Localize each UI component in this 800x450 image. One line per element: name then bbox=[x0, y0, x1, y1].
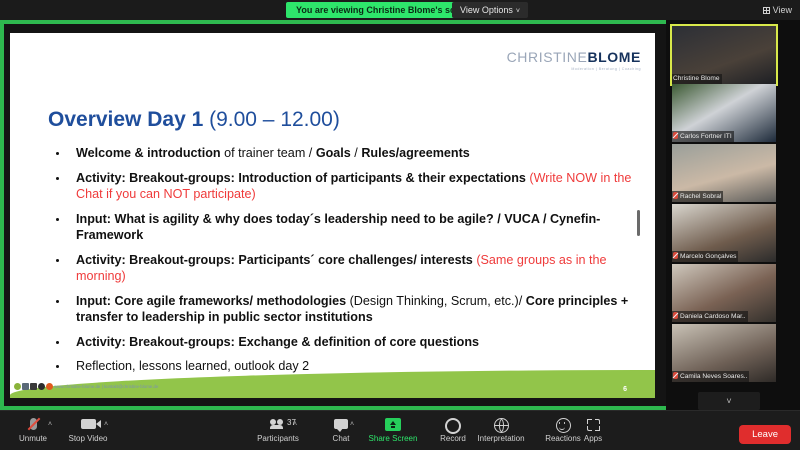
participant-thumbnail[interactable]: Marcelo Gonçalves bbox=[672, 204, 776, 262]
thumbnail-scroll-down-button[interactable]: ˅ bbox=[698, 392, 760, 410]
participant-thumbnail[interactable]: Daniela Cardoso Mar.. bbox=[672, 264, 776, 322]
participant-name-label: Marcelo Gonçalves bbox=[672, 251, 738, 262]
bullet-input-agility: Input: What is agility & why does today´… bbox=[48, 211, 638, 244]
slide-contact-line: www.christine-blome.de | kontakt@christi… bbox=[14, 381, 158, 391]
toolbar-interpretation-label: Interpretation bbox=[470, 434, 532, 444]
apps-icon bbox=[587, 419, 600, 431]
bullet-welcome: Welcome & introduction of trainer team /… bbox=[48, 145, 638, 162]
mic-muted-icon bbox=[673, 192, 678, 199]
slide-title: Overview Day 1 (9.00 – 12.00) bbox=[48, 108, 340, 132]
bullet-activity-challenges-run-0: Activity: Breakout-groups: Participants´… bbox=[76, 253, 473, 267]
bullet-activity-intro: Activity: Breakout-groups: Introduction … bbox=[48, 170, 638, 203]
toolbar-unmute-label: Unmute bbox=[2, 434, 64, 444]
slide-page-number: 6 bbox=[623, 386, 627, 393]
bullet-welcome-run-4: Rules/agreements bbox=[361, 146, 470, 160]
bullet-input-frameworks: Input: Core agile frameworks/ methodolog… bbox=[48, 293, 638, 326]
toolbar-apps-label: Apps bbox=[562, 434, 624, 444]
participant-name-text: Daniela Cardoso Mar.. bbox=[680, 313, 746, 320]
bullet-activity-exchange-run-0: Activity: Breakout-groups: Exchange & de… bbox=[76, 335, 479, 349]
bullet-activity-challenges: Activity: Breakout-groups: Participants´… bbox=[48, 252, 638, 285]
shared-slide: CHRISTINEBLOME Moderation | Beratung | C… bbox=[10, 33, 655, 398]
logo-last-name: BLOME bbox=[587, 49, 641, 65]
participant-name-label: Christine Blome bbox=[672, 74, 722, 84]
share-screen-icon bbox=[385, 418, 401, 431]
xing-icon bbox=[14, 383, 21, 390]
toolbar-unmute-chevron-up-icon[interactable]: ˄ bbox=[48, 421, 52, 428]
linkedin-icon bbox=[30, 383, 37, 390]
bullet-welcome-run-3: / bbox=[351, 146, 362, 160]
apps-icon-wrap bbox=[562, 416, 624, 433]
mic-muted-icon bbox=[673, 372, 678, 379]
bullet-activity-intro-run-0: Activity: Breakout-groups: Introduction … bbox=[76, 171, 526, 185]
toolbar-stop-video-chevron-up-icon[interactable]: ˄ bbox=[104, 421, 108, 428]
participant-name-label: Daniela Cardoso Mar.. bbox=[672, 311, 748, 322]
toolbar-stop-video-button[interactable]: Stop Video bbox=[57, 416, 119, 444]
bullet-input-frameworks-run-0: Input: Core agile frameworks/ methodolog… bbox=[76, 294, 346, 308]
share-screen-icon-wrap bbox=[362, 416, 424, 433]
chevron-down-icon: ˅ bbox=[516, 8, 520, 15]
view-layout-button[interactable]: View bbox=[763, 3, 792, 17]
globe-icon bbox=[494, 418, 509, 433]
slide-bullet-list: Welcome & introduction of trainer team /… bbox=[48, 145, 638, 383]
logo-first-name: CHRISTINE bbox=[507, 49, 588, 65]
bullet-input-frameworks-run-1: (Design Thinking, Scrum, etc.)/ bbox=[346, 294, 526, 308]
toolbar-share-screen-button[interactable]: Share Screen bbox=[362, 416, 424, 444]
camera-icon bbox=[81, 419, 96, 429]
unmute-icon-wrap bbox=[2, 416, 64, 433]
toolbar-apps-button[interactable]: Apps bbox=[562, 416, 624, 444]
view-button-label: View bbox=[773, 5, 792, 15]
participant-name-text: Christine Blome bbox=[673, 75, 720, 82]
facebook-icon bbox=[38, 383, 45, 390]
microphone-muted-icon bbox=[30, 418, 37, 430]
toolbar-unmute-button[interactable]: Unmute bbox=[2, 416, 64, 444]
meeting-toolbar: Unmute˄Stop Video˄37Participants˄Chat˄Sh… bbox=[0, 410, 800, 450]
toolbar-participants-chevron-up-icon[interactable]: ˄ bbox=[293, 421, 297, 428]
chat-icon bbox=[334, 419, 348, 429]
participants-icon bbox=[270, 419, 286, 429]
interpretation-icon-wrap bbox=[470, 416, 532, 433]
record-icon bbox=[445, 418, 461, 434]
rss-icon bbox=[46, 383, 53, 390]
stop-video-icon-wrap bbox=[57, 416, 119, 433]
slide-title-main: Overview Day 1 bbox=[48, 108, 203, 131]
bullet-reflection-run-0: Reflection, lessons learned, outlook day… bbox=[76, 359, 309, 373]
participant-thumbnail[interactable]: Rachel Sobral bbox=[672, 144, 776, 202]
bullet-activity-exchange: Activity: Breakout-groups: Exchange & de… bbox=[48, 334, 638, 351]
shared-view-scrollbar[interactable] bbox=[637, 210, 640, 236]
leave-meeting-button[interactable]: Leave bbox=[739, 425, 791, 444]
presenter-logo: CHRISTINEBLOME Moderation | Beratung | C… bbox=[507, 50, 641, 72]
participant-name-label: Rachel Sobral bbox=[672, 191, 723, 202]
participant-name-text: Carlos Fortner ITI bbox=[680, 133, 732, 140]
toolbar-participants-button[interactable]: 37Participants bbox=[247, 416, 309, 444]
bullet-input-agility-run-0: Input: What is agility & why does today´… bbox=[76, 212, 600, 243]
view-options-button[interactable]: View Options˅ bbox=[452, 2, 528, 18]
bullet-welcome-run-2: Goals bbox=[316, 146, 351, 160]
participant-name-label: Camila Neves Soares.. bbox=[672, 371, 749, 382]
top-bar: You are viewing Christine Blome's screen… bbox=[0, 0, 800, 20]
toolbar-participants-label: Participants bbox=[247, 434, 309, 444]
participant-name-text: Rachel Sobral bbox=[680, 193, 721, 200]
bullet-welcome-run-0: Welcome & introduction bbox=[76, 146, 221, 160]
contact-text: www.christine-blome.de | kontakt@christi… bbox=[54, 384, 158, 389]
participants-icon-wrap: 37 bbox=[247, 416, 309, 433]
participant-name-label: Carlos Fortner ITI bbox=[672, 131, 734, 142]
logo-tagline: Moderation | Beratung | Coaching bbox=[507, 66, 641, 72]
mic-muted-icon bbox=[673, 132, 678, 139]
twitter-icon bbox=[22, 383, 29, 390]
bullet-welcome-run-1: of trainer team / bbox=[221, 146, 316, 160]
toolbar-stop-video-label: Stop Video bbox=[57, 434, 119, 444]
participant-thumbnail[interactable]: Camila Neves Soares.. bbox=[672, 324, 776, 382]
slide-title-time: (9.00 – 12.00) bbox=[203, 108, 340, 131]
toolbar-chat-chevron-up-icon[interactable]: ˄ bbox=[350, 421, 354, 428]
view-options-label: View Options bbox=[460, 5, 513, 15]
participant-name-text: Marcelo Gonçalves bbox=[680, 253, 736, 260]
participant-thumbnail[interactable]: Carlos Fortner ITI bbox=[672, 84, 776, 142]
toolbar-share-screen-label: Share Screen bbox=[362, 434, 424, 444]
participant-thumbnail-strip[interactable]: Christine BlomeCarlos Fortner ITIRachel … bbox=[668, 20, 800, 410]
grid-icon bbox=[763, 7, 770, 14]
participant-name-text: Camila Neves Soares.. bbox=[680, 373, 747, 380]
toolbar-interpretation-button[interactable]: Interpretation bbox=[470, 416, 532, 444]
mic-muted-icon bbox=[673, 252, 678, 259]
mic-muted-icon bbox=[673, 312, 678, 319]
participant-thumbnail[interactable]: Christine Blome bbox=[670, 24, 778, 86]
